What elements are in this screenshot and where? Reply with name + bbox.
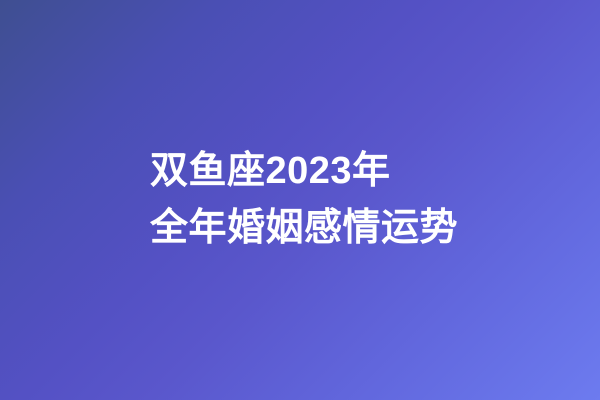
banner-background: 双鱼座2023年 全年婚姻感情运势 <box>0 0 600 400</box>
banner-title-line-2: 全年婚姻感情运势 <box>150 200 576 257</box>
banner-title-block: 双鱼座2023年 全年婚姻感情运势 <box>0 143 600 257</box>
banner-title-line-1: 双鱼座2023年 <box>150 143 576 200</box>
